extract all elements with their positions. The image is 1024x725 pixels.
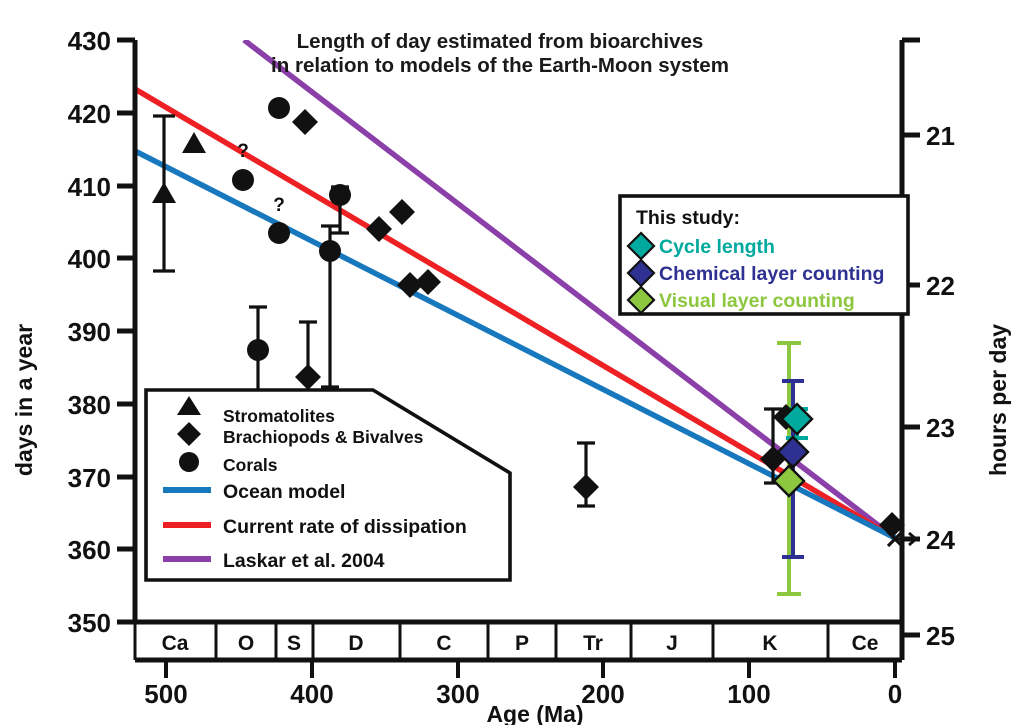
period-S: S (287, 632, 301, 655)
legend-label-corals: Corals (223, 455, 278, 475)
legend-label-cycle-length: Cycle length (659, 236, 775, 258)
legend-label-chemical-layer: Chemical layer counting (659, 263, 884, 285)
canvas-background (0, 0, 1024, 725)
period-C: C (436, 632, 451, 655)
ytick-400: 400 (68, 244, 111, 274)
ytick-380: 380 (68, 390, 111, 420)
marker-coral (329, 184, 351, 206)
this-study-heading: This study: (636, 207, 740, 229)
legend-label-ocean-model: Ocean model (223, 481, 345, 503)
period-D: D (348, 632, 363, 655)
ytick-right-25: 25 (926, 621, 955, 651)
x-axis-title: Age (Ma) (486, 701, 583, 725)
chart-title-line1: Length of day estimated from bioarchives (297, 30, 704, 53)
marker-coral (232, 169, 254, 191)
xtick-400: 400 (290, 679, 333, 709)
ytick-right-24: 24 (926, 525, 955, 555)
ytick-right-21: 21 (926, 121, 955, 151)
marker-coral (247, 339, 269, 361)
ytick-420: 420 (68, 99, 111, 129)
period-Ce: Ce (852, 632, 879, 655)
period-O: O (238, 632, 254, 655)
period-Ca: Ca (162, 632, 189, 655)
period-P: P (515, 632, 529, 655)
marker-coral (268, 97, 290, 119)
period-Tr: Tr (583, 632, 603, 655)
marker-coral (268, 222, 290, 244)
ytick-430: 430 (68, 26, 111, 56)
xtick-100: 100 (727, 679, 770, 709)
legend-icon-circle (179, 452, 199, 472)
xtick-200: 200 (581, 679, 624, 709)
marker-coral (319, 240, 341, 262)
ytick-right-22: 22 (926, 271, 955, 301)
period-K: K (762, 632, 777, 655)
left-axis-labels: 430 420 410 400 390 380 370 360 350 (68, 26, 111, 638)
ytick-right-23: 23 (926, 413, 955, 443)
ytick-390: 390 (68, 317, 111, 347)
y-axis-title-right: hours per day (985, 324, 1011, 476)
legend-label-brachiopods: Brachiopods & Bivalves (223, 427, 424, 447)
legend-label-laskar: Laskar et al. 2004 (223, 550, 385, 572)
period-J: J (666, 632, 678, 655)
ytick-370: 370 (68, 463, 111, 493)
annotation-question-1: ? (237, 141, 249, 162)
this-study-legend: This study: Cycle length Chemical layer … (620, 196, 908, 314)
xtick-0: 0 (888, 679, 902, 709)
annotation-question-2: ? (273, 195, 285, 216)
ytick-410: 410 (68, 172, 111, 202)
xtick-500: 500 (144, 679, 187, 709)
legend-label-visual-layer: Visual layer counting (659, 290, 855, 312)
legend-label-current-dissipation: Current rate of dissipation (223, 516, 467, 538)
xtick-300: 300 (436, 679, 479, 709)
ytick-350: 350 (68, 608, 111, 638)
chart-title-line2: in relation to models of the Earth-Moon … (271, 54, 729, 77)
y-axis-title: days in a year (11, 324, 37, 476)
figure-root: ? ? 430 420 410 400 390 380 (0, 0, 1024, 725)
length-of-day-chart: ? ? 430 420 410 400 390 380 (0, 0, 1024, 725)
ytick-360: 360 (68, 535, 111, 565)
legend-label-stromatolites: Stromatolites (223, 406, 335, 426)
